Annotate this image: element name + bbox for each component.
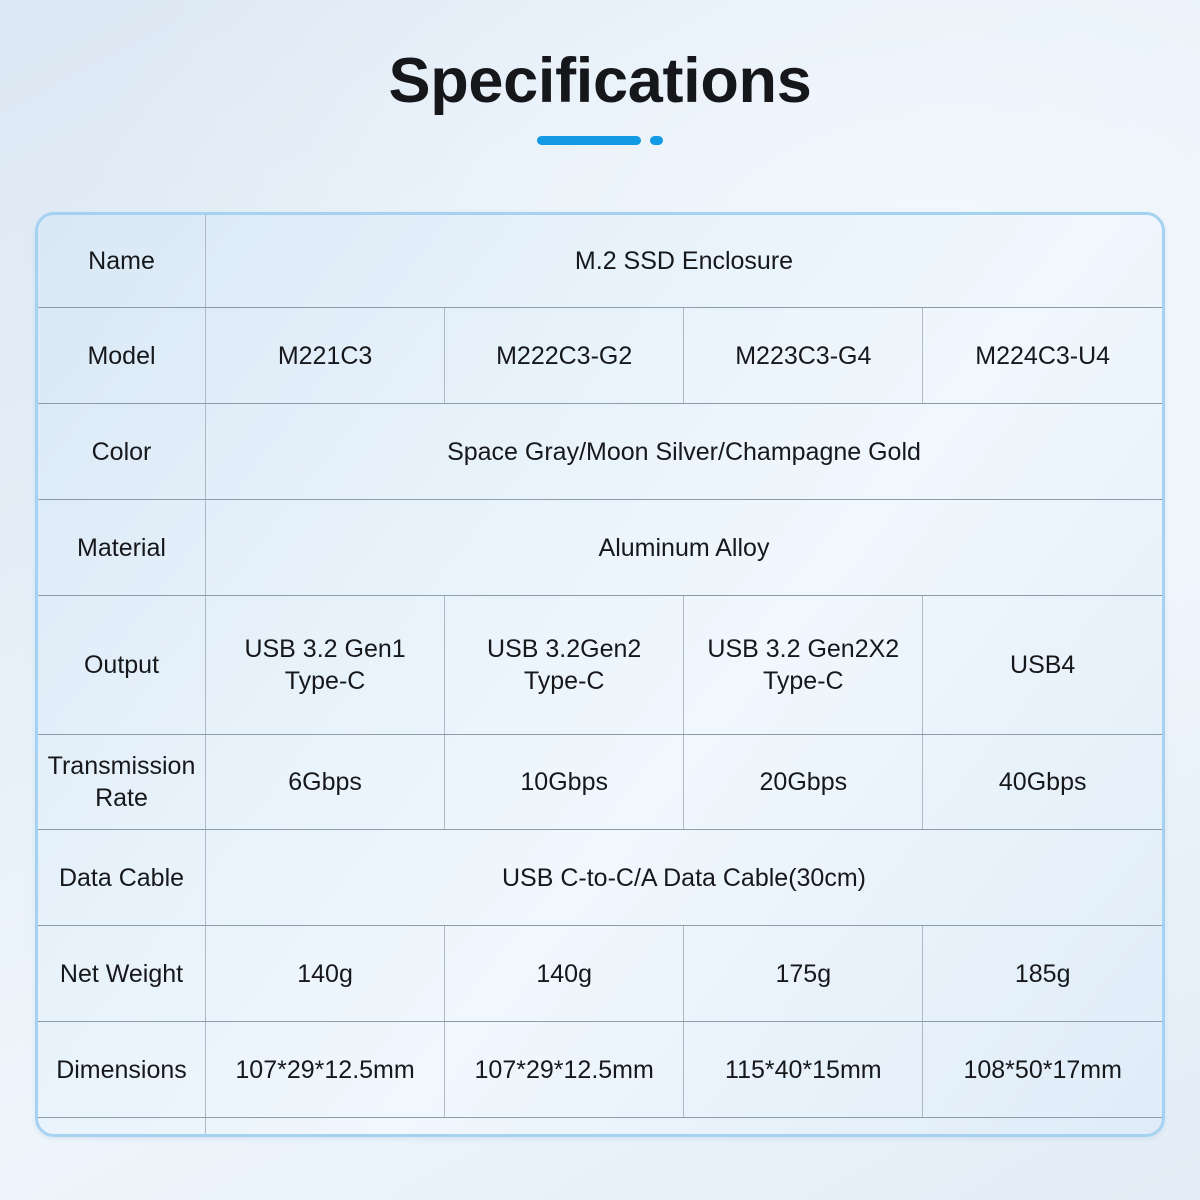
row-label-output: Output [38,596,206,735]
cell-model-2: M222C3-G2 [445,308,684,404]
cell-output-1-line2: Type-C [212,665,438,697]
specifications-table-frame: Name M.2 SSD Enclosure Model M221C3 M222… [35,212,1165,1137]
table-row: Model M221C3 M222C3-G2 M223C3-G4 M224C3-… [38,308,1162,404]
cell-output-4: USB4 [923,596,1162,735]
row-value-support-systems: Windows, Mac OS, Linux, Android [206,1118,1163,1138]
cell-output-3-line2: Type-C [690,665,916,697]
cell-output-1: USB 3.2 Gen1 Type-C [206,596,445,735]
cell-weight-1: 140g [206,926,445,1022]
row-label-support-systems: Support Systems [38,1118,206,1138]
cell-output-2: USB 3.2Gen2 Type-C [445,596,684,735]
cell-weight-2: 140g [445,926,684,1022]
page-title: Specifications [0,48,1200,114]
row-label-name: Name [38,215,206,308]
title-block: Specifications [0,48,1200,145]
row-label-transmission-rate-line2: Rate [44,782,199,814]
table-row: Data Cable USB C-to-C/A Data Cable(30cm) [38,830,1162,926]
cell-rate-3: 20Gbps [684,735,923,830]
cell-model-1: M221C3 [206,308,445,404]
cell-weight-4: 185g [923,926,1162,1022]
specifications-page: Specifications Name M.2 SSD Enclosure Mo… [0,0,1200,1200]
cell-rate-1: 6Gbps [206,735,445,830]
row-label-material: Material [38,500,206,596]
row-label-transmission-rate-line1: Transmission [44,750,199,782]
accent-dot-icon [650,136,663,145]
row-label-support-systems-line1: Support [44,1135,199,1137]
cell-output-2-line1: USB 3.2Gen2 [451,633,677,665]
cell-output-3-line1: USB 3.2 Gen2X2 [690,633,916,665]
cell-output-1-line1: USB 3.2 Gen1 [212,633,438,665]
cell-dims-3: 115*40*15mm [684,1022,923,1118]
title-accent [0,136,1200,145]
table-row: Color Space Gray/Moon Silver/Champagne G… [38,404,1162,500]
specifications-table: Name M.2 SSD Enclosure Model M221C3 M222… [38,215,1162,1137]
table-row: Name M.2 SSD Enclosure [38,215,1162,308]
cell-dims-2: 107*29*12.5mm [445,1022,684,1118]
cell-output-4-line1: USB4 [929,649,1156,681]
row-value-material: Aluminum Alloy [206,500,1163,596]
cell-dims-4: 108*50*17mm [923,1022,1162,1118]
row-value-name: M.2 SSD Enclosure [206,215,1163,308]
table-row: Transmission Rate 6Gbps 10Gbps 20Gbps 40… [38,735,1162,830]
cell-rate-4: 40Gbps [923,735,1162,830]
table-row: Dimensions 107*29*12.5mm 107*29*12.5mm 1… [38,1022,1162,1118]
row-label-transmission-rate: Transmission Rate [38,735,206,830]
table-row: Material Aluminum Alloy [38,500,1162,596]
cell-model-4: M224C3-U4 [923,308,1162,404]
table-row: Support Systems Windows, Mac OS, Linux, … [38,1118,1162,1138]
row-label-net-weight: Net Weight [38,926,206,1022]
row-label-data-cable: Data Cable [38,830,206,926]
row-value-color: Space Gray/Moon Silver/Champagne Gold [206,404,1163,500]
row-label-model: Model [38,308,206,404]
cell-output-3: USB 3.2 Gen2X2 Type-C [684,596,923,735]
cell-weight-3: 175g [684,926,923,1022]
table-row: Output USB 3.2 Gen1 Type-C USB 3.2Gen2 T… [38,596,1162,735]
cell-rate-2: 10Gbps [445,735,684,830]
cell-dims-1: 107*29*12.5mm [206,1022,445,1118]
table-row: Net Weight 140g 140g 175g 185g [38,926,1162,1022]
row-label-dimensions: Dimensions [38,1022,206,1118]
cell-output-2-line2: Type-C [451,665,677,697]
row-value-data-cable: USB C-to-C/A Data Cable(30cm) [206,830,1163,926]
accent-bar-icon [537,136,641,145]
cell-model-3: M223C3-G4 [684,308,923,404]
row-label-color: Color [38,404,206,500]
